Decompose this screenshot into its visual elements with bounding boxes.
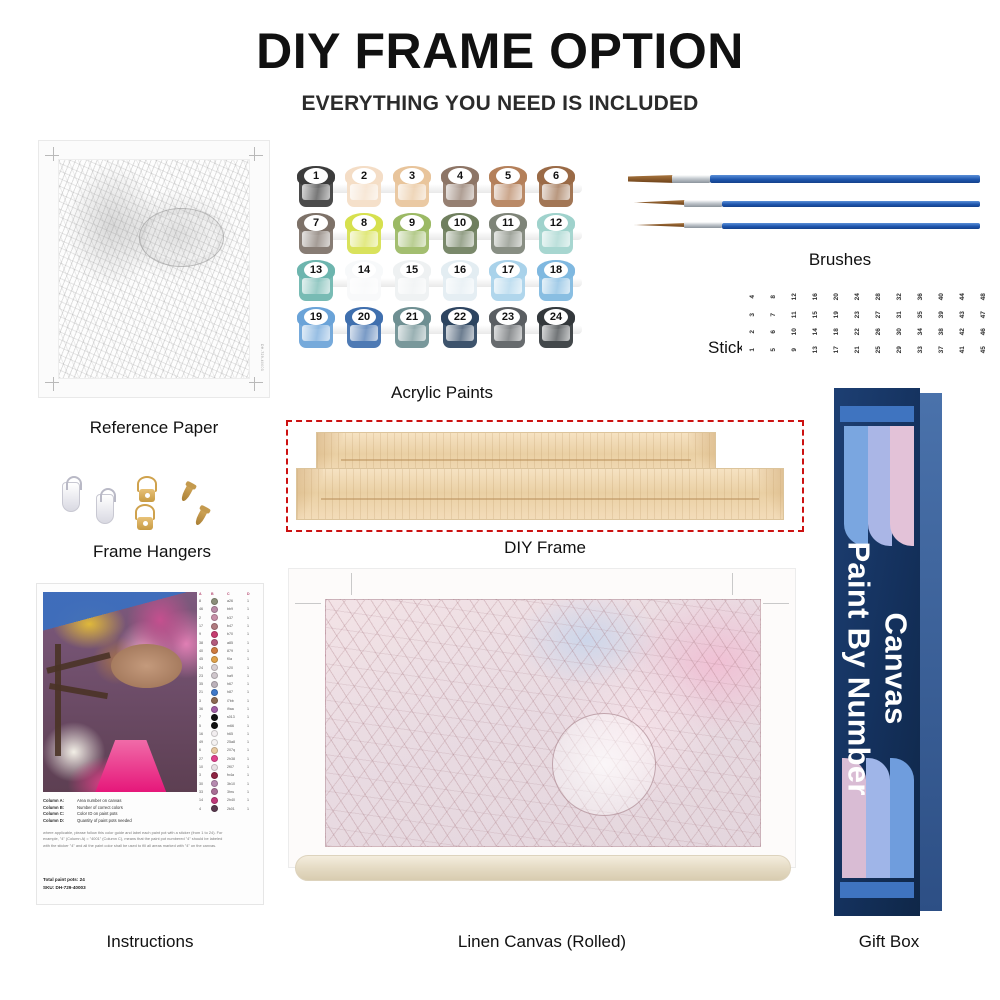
legend-row: 8a261 bbox=[199, 597, 257, 605]
paint-pot-gloss bbox=[398, 325, 426, 341]
sticker-column: 5678 bbox=[763, 288, 784, 358]
legend-color-dot bbox=[211, 739, 218, 746]
legend-area-number: 33 bbox=[199, 790, 211, 794]
caption-reference-paper: Reference Paper bbox=[38, 418, 270, 438]
caption-brushes: Brushes bbox=[760, 250, 920, 270]
legend-quantity: 1 bbox=[247, 641, 257, 645]
legend-row: 35h671 bbox=[199, 680, 257, 688]
d-ring-hanger-icon bbox=[136, 476, 158, 502]
infographic-canvas: DIY FRAME OPTION EVERYTHING YOU NEED IS … bbox=[0, 0, 1000, 1000]
paint-pot-number: 13 bbox=[304, 262, 328, 278]
total-pots-label: Total paint pots: bbox=[43, 877, 78, 882]
sticker-column: 45464748 bbox=[973, 288, 994, 358]
paint-pot-gloss bbox=[302, 325, 330, 341]
paint-pot: 16 bbox=[440, 260, 480, 302]
paint-pot: 11 bbox=[488, 213, 528, 255]
legend-area-number: 45 bbox=[199, 657, 211, 661]
reference-line-art bbox=[58, 159, 250, 379]
legend-area-number: 35 bbox=[199, 682, 211, 686]
paint-pot-number: 4 bbox=[448, 168, 472, 184]
legend-quantity: 1 bbox=[247, 632, 257, 636]
sticker-sheet: 1234567891011121314151617181920212223242… bbox=[742, 288, 994, 358]
legend-header-cell: C bbox=[227, 592, 247, 596]
paint-pot: 23 bbox=[488, 307, 528, 349]
paint-pot-gloss bbox=[350, 278, 378, 294]
sticker-column: 25262728 bbox=[868, 288, 889, 358]
legend-color-code: bb9 bbox=[227, 607, 247, 611]
paint-pot: 6 bbox=[536, 166, 576, 208]
paint-pot: 1 bbox=[296, 166, 336, 208]
caption-gift-box: Gift Box bbox=[824, 932, 954, 952]
paint-pot: 17 bbox=[488, 260, 528, 302]
legend-color-code: m66 bbox=[227, 724, 247, 728]
legend-color-code: 25a8 bbox=[227, 740, 247, 744]
legend-area-number: 24 bbox=[199, 666, 211, 670]
sticker-column: 33343536 bbox=[910, 288, 931, 358]
gift-box-line2: Paint By Number bbox=[840, 433, 877, 905]
paint-pot: 12 bbox=[536, 213, 576, 255]
frame-hanger-set bbox=[56, 468, 276, 540]
sticker-number: 24 bbox=[849, 286, 867, 307]
legend-quantity: 1 bbox=[247, 649, 257, 653]
brush-set bbox=[628, 172, 980, 252]
legend-color-code: f0a bbox=[227, 657, 247, 661]
linen-canvas bbox=[288, 568, 796, 908]
legend-color-code: a85 bbox=[227, 641, 247, 645]
paint-pot: 21 bbox=[392, 307, 432, 349]
legend-color-code: b70 bbox=[227, 632, 247, 636]
paint-pot-number: 23 bbox=[496, 309, 520, 325]
page-title: DIY FRAME OPTION bbox=[0, 26, 1000, 76]
paint-pot: 14 bbox=[344, 260, 384, 302]
screw-icon bbox=[180, 482, 196, 503]
legend-quantity: 1 bbox=[247, 699, 257, 703]
legend-color-dot bbox=[211, 780, 218, 787]
caption-acrylic-paints: Acrylic Paints bbox=[296, 383, 588, 403]
paint-pot: 3 bbox=[392, 166, 432, 208]
legend-color-dot bbox=[211, 681, 218, 688]
paint-pot-number: 14 bbox=[352, 262, 376, 278]
sticker-number: 40 bbox=[933, 286, 951, 307]
instructions-column-key: Column A:Area number on canvasColumn B:N… bbox=[43, 798, 203, 824]
sticker-number: 8 bbox=[765, 286, 783, 307]
legend-area-number: 2 bbox=[199, 616, 211, 620]
paint-pot-gloss bbox=[302, 278, 330, 294]
instructions-column-label: Column D: bbox=[43, 818, 77, 825]
caption-instructions: Instructions bbox=[36, 932, 264, 952]
legend-header-cell: B bbox=[211, 592, 227, 596]
paint-pot-row: 789101112 bbox=[296, 211, 588, 258]
legend-header-cell: D bbox=[247, 592, 257, 596]
legend-row: 3fn4a1 bbox=[199, 771, 257, 779]
instructions-column-desc: Area number on canvas bbox=[77, 798, 121, 803]
paint-pot-number: 3 bbox=[400, 168, 424, 184]
paint-pot-number: 19 bbox=[304, 309, 328, 325]
legend-color-code: b47 bbox=[227, 624, 247, 628]
legend-color-dot bbox=[211, 598, 218, 605]
paint-pot: 15 bbox=[392, 260, 432, 302]
paint-pot-gloss bbox=[350, 184, 378, 200]
legend-area-number: 8 bbox=[199, 599, 211, 603]
legend-quantity: 1 bbox=[247, 607, 257, 611]
legend-row: 5m661 bbox=[199, 721, 257, 729]
legend-area-number: 3 bbox=[199, 773, 211, 777]
paint-pot-number: 12 bbox=[544, 215, 568, 231]
legend-area-number: 7 bbox=[199, 715, 211, 719]
legend-color-code: fn4a bbox=[227, 773, 247, 777]
gift-box-side bbox=[920, 393, 942, 911]
diy-frame-highlight bbox=[286, 420, 804, 532]
paint-pot-row: 131415161718 bbox=[296, 258, 588, 305]
paint-pot-gloss bbox=[494, 278, 522, 294]
instructions-artwork bbox=[43, 592, 197, 792]
paint-pot-gloss bbox=[446, 325, 474, 341]
legend-row: 9b701 bbox=[199, 630, 257, 638]
paint-pot-gloss bbox=[446, 184, 474, 200]
legend-header-cell: A bbox=[199, 592, 211, 596]
canvas-sheet bbox=[288, 568, 796, 868]
legend-quantity: 1 bbox=[247, 690, 257, 694]
legend-quantity: 1 bbox=[247, 724, 257, 728]
paint-pot: 2 bbox=[344, 166, 384, 208]
legend-quantity: 1 bbox=[247, 682, 257, 686]
legend-row: 2b371 bbox=[199, 614, 257, 622]
legend-row: 24h201 bbox=[199, 663, 257, 671]
paint-pot-number: 6 bbox=[544, 168, 568, 184]
legend-area-number: 10 bbox=[199, 765, 211, 769]
legend-color-dot bbox=[211, 647, 218, 654]
paint-pot: 8 bbox=[344, 213, 384, 255]
instructions-column-desc: Color ID on paint pots bbox=[77, 811, 118, 816]
sticker-column: 17181920 bbox=[826, 288, 847, 358]
legend-color-code: s013 bbox=[227, 715, 247, 719]
caption-frame-hangers: Frame Hangers bbox=[36, 542, 268, 562]
sticker-column: 9101112 bbox=[784, 288, 805, 358]
paint-pot-gloss bbox=[542, 231, 570, 247]
legend-color-code: 2h40 bbox=[227, 798, 247, 802]
paint-pot-gloss bbox=[494, 184, 522, 200]
paint-pot-gloss bbox=[446, 278, 474, 294]
sticker-column: 29303132 bbox=[889, 288, 910, 358]
legend-color-dot bbox=[211, 697, 218, 704]
paint-pot-gloss bbox=[494, 231, 522, 247]
legend-quantity: 1 bbox=[247, 599, 257, 603]
legend-row: 46bb91 bbox=[199, 605, 257, 613]
legend-area-number: 40 bbox=[199, 649, 211, 653]
legend-area-number: 30 bbox=[199, 782, 211, 786]
paint-pot-gloss bbox=[302, 231, 330, 247]
paint-pot-gloss bbox=[542, 325, 570, 341]
legend-area-number: 6 bbox=[199, 748, 211, 752]
legend-color-dot bbox=[211, 805, 218, 812]
instructions-color-legend: ABCD8a26146bb912b37117b4719b70138a851408… bbox=[199, 592, 257, 816]
instructions-column-desc: Quantity of paint pots needed bbox=[77, 818, 132, 823]
total-pots-value: 24 bbox=[80, 877, 85, 882]
legend-color-dot bbox=[211, 730, 218, 737]
paint-pot-row: 192021222324 bbox=[296, 305, 588, 352]
legend-row: 303b101 bbox=[199, 780, 257, 788]
legend-color-dot bbox=[211, 623, 218, 630]
sticker-column: 41424344 bbox=[952, 288, 973, 358]
legend-color-dot bbox=[211, 706, 218, 713]
paint-pot: 9 bbox=[392, 213, 432, 255]
paint-pot-gloss bbox=[542, 278, 570, 294]
legend-area-number: 16 bbox=[199, 732, 211, 736]
paint-pot-gloss bbox=[446, 231, 474, 247]
legend-color-dot bbox=[211, 714, 218, 721]
legend-color-dot bbox=[211, 631, 218, 638]
legend-color-dot bbox=[211, 656, 218, 663]
paint-pot-row: 123456 bbox=[296, 164, 588, 211]
legend-area-number: 46 bbox=[199, 607, 211, 611]
legend-area-number: 49 bbox=[199, 740, 211, 744]
paint-pot-gloss bbox=[350, 325, 378, 341]
legend-color-code: h67 bbox=[227, 682, 247, 686]
legend-area-number: 9 bbox=[199, 632, 211, 636]
paint-pot-number: 21 bbox=[400, 309, 424, 325]
gift-box-line1: Canvas bbox=[877, 433, 914, 905]
sticker-number: 36 bbox=[912, 286, 930, 307]
legend-color-code: 207q bbox=[227, 748, 247, 752]
sticker-column: 1234 bbox=[742, 288, 763, 358]
paint-pot-number: 8 bbox=[352, 215, 376, 231]
legend-color-code: 3hru bbox=[227, 790, 247, 794]
paint-pot: 4 bbox=[440, 166, 480, 208]
plastic-hook-icon bbox=[96, 494, 114, 524]
legend-row: 42k011 bbox=[199, 804, 257, 812]
sticker-column: 37383940 bbox=[931, 288, 952, 358]
paint-pot-number: 2 bbox=[352, 168, 376, 184]
sticker-number: 20 bbox=[828, 286, 846, 307]
legend-row: 102f071 bbox=[199, 763, 257, 771]
paint-pot: 10 bbox=[440, 213, 480, 255]
legend-quantity: 1 bbox=[247, 807, 257, 811]
legend-color-code: 2k01 bbox=[227, 807, 247, 811]
paint-pot: 5 bbox=[488, 166, 528, 208]
legend-color-dot bbox=[211, 772, 218, 779]
paint-pot-number: 7 bbox=[304, 215, 328, 231]
legend-color-dot bbox=[211, 664, 218, 671]
screw-icon bbox=[194, 506, 210, 527]
caption-diy-frame: DIY Frame bbox=[286, 538, 804, 558]
legend-row: 4925a81 bbox=[199, 738, 257, 746]
reference-paper-sheet: DH-729-40003 bbox=[38, 140, 270, 398]
legend-color-code: 2f07 bbox=[227, 765, 247, 769]
legend-area-number: 5 bbox=[199, 724, 211, 728]
paint-pot-gloss bbox=[542, 184, 570, 200]
legend-color-dot bbox=[211, 764, 218, 771]
legend-quantity: 1 bbox=[247, 616, 257, 620]
paint-pot-number: 11 bbox=[496, 215, 520, 231]
legend-color-code: h65 bbox=[227, 732, 247, 736]
legend-quantity: 1 bbox=[247, 748, 257, 752]
legend-row: 7s0131 bbox=[199, 713, 257, 721]
paint-pot-number: 24 bbox=[544, 309, 568, 325]
legend-area-number: 27 bbox=[199, 757, 211, 761]
paint-pot: 24 bbox=[536, 307, 576, 349]
sticker-number: 44 bbox=[954, 286, 972, 307]
paint-pot-number: 15 bbox=[400, 262, 424, 278]
paint-pot-number: 20 bbox=[352, 309, 376, 325]
legend-quantity: 1 bbox=[247, 715, 257, 719]
caption-linen-canvas: Linen Canvas (Rolled) bbox=[288, 932, 796, 952]
paint-pot-number: 9 bbox=[400, 215, 424, 231]
legend-row: 21h871 bbox=[199, 688, 257, 696]
legend-color-dot bbox=[211, 614, 218, 621]
canvas-rolled-edge bbox=[295, 855, 791, 881]
legend-quantity: 1 bbox=[247, 624, 257, 628]
legend-color-code: 2h38 bbox=[227, 757, 247, 761]
paint-pot-gloss bbox=[398, 278, 426, 294]
paint-pot-gloss bbox=[302, 184, 330, 200]
legend-color-dot bbox=[211, 747, 218, 754]
sticker-column: 13141516 bbox=[805, 288, 826, 358]
sticker-number: 16 bbox=[807, 286, 825, 307]
paint-pot: 20 bbox=[344, 307, 384, 349]
frame-bar-bottom bbox=[296, 468, 784, 520]
legend-quantity: 1 bbox=[247, 757, 257, 761]
legend-quantity: 1 bbox=[247, 773, 257, 777]
reference-side-code: DH-729-40003 bbox=[260, 344, 264, 371]
legend-color-dot bbox=[211, 672, 218, 679]
legend-color-code: 3b10 bbox=[227, 782, 247, 786]
legend-quantity: 1 bbox=[247, 765, 257, 769]
legend-quantity: 1 bbox=[247, 674, 257, 678]
paint-pot-number: 22 bbox=[448, 309, 472, 325]
gift-box: Canvas Paint By Number bbox=[834, 388, 944, 916]
legend-color-dot bbox=[211, 689, 218, 696]
paint-pot-gloss bbox=[350, 231, 378, 247]
legend-row: 6207q1 bbox=[199, 746, 257, 754]
legend-area-number: 36 bbox=[199, 707, 211, 711]
legend-area-number: 23 bbox=[199, 674, 211, 678]
instructions-note: where applicable, please follow this col… bbox=[43, 830, 229, 849]
acrylic-paints-grid: 123456789101112131415161718192021222324 bbox=[296, 164, 588, 364]
d-ring-hanger-icon bbox=[134, 504, 156, 530]
legend-color-dot bbox=[211, 639, 218, 646]
legend-area-number: 17 bbox=[199, 624, 211, 628]
sticker-number: 48 bbox=[975, 286, 993, 307]
legend-row: 333hru1 bbox=[199, 788, 257, 796]
gift-box-label: Canvas Paint By Number bbox=[840, 433, 913, 905]
paint-pot-gloss bbox=[398, 231, 426, 247]
legend-color-dot bbox=[211, 788, 218, 795]
paint-pot: 7 bbox=[296, 213, 336, 255]
legend-quantity: 1 bbox=[247, 740, 257, 744]
paint-pot: 13 bbox=[296, 260, 336, 302]
paint-pot-number: 16 bbox=[448, 262, 472, 278]
legend-area-number: 38 bbox=[199, 641, 211, 645]
legend-area-number: 21 bbox=[199, 690, 211, 694]
canvas-numbered-outline bbox=[325, 599, 761, 847]
legend-area-number: 3 bbox=[199, 699, 211, 703]
legend-row: 36i9aa1 bbox=[199, 705, 257, 713]
legend-quantity: 1 bbox=[247, 798, 257, 802]
legend-color-dot bbox=[211, 755, 218, 762]
legend-row: 408791 bbox=[199, 647, 257, 655]
paint-pot-number: 18 bbox=[544, 262, 568, 278]
paint-pot-gloss bbox=[398, 184, 426, 200]
sticker-number: 12 bbox=[786, 286, 804, 307]
legend-row: 3i7bb1 bbox=[199, 697, 257, 705]
legend-color-dot bbox=[211, 606, 218, 613]
paint-pot: 18 bbox=[536, 260, 576, 302]
page-subtitle: EVERYTHING YOU NEED IS INCLUDED bbox=[0, 92, 1000, 116]
paint-pot: 19 bbox=[296, 307, 336, 349]
legend-color-code: b37 bbox=[227, 616, 247, 620]
legend-row: 16h651 bbox=[199, 730, 257, 738]
legend-color-code: i7bb bbox=[227, 699, 247, 703]
legend-color-code: a26 bbox=[227, 599, 247, 603]
legend-color-code: h87 bbox=[227, 690, 247, 694]
gift-box-front: Canvas Paint By Number bbox=[834, 388, 920, 916]
legend-row: 38a851 bbox=[199, 638, 257, 646]
legend-quantity: 1 bbox=[247, 657, 257, 661]
sticker-number: 28 bbox=[870, 286, 888, 307]
sticker-number: 32 bbox=[891, 286, 909, 307]
legend-row: 142h401 bbox=[199, 796, 257, 804]
paint-pot-gloss bbox=[494, 325, 522, 341]
legend-row: 23ha91 bbox=[199, 672, 257, 680]
legend-quantity: 1 bbox=[247, 732, 257, 736]
legend-row: 45f0a1 bbox=[199, 655, 257, 663]
instructions-sheet: ABCD8a26146bb912b37117b4719b70138a851408… bbox=[36, 583, 264, 905]
legend-quantity: 1 bbox=[247, 790, 257, 794]
plastic-hook-icon bbox=[62, 482, 80, 512]
sticker-column: 21222324 bbox=[847, 288, 868, 358]
legend-color-code: h20 bbox=[227, 666, 247, 670]
instructions-column-desc: Number of correct colors bbox=[77, 805, 123, 810]
paint-pot-number: 5 bbox=[496, 168, 520, 184]
paint-pot-number: 10 bbox=[448, 215, 472, 231]
legend-quantity: 1 bbox=[247, 707, 257, 711]
paint-pot: 22 bbox=[440, 307, 480, 349]
legend-color-dot bbox=[211, 722, 218, 729]
sku-value: DH-729-40003 bbox=[56, 885, 86, 890]
sticker-number: 4 bbox=[744, 286, 762, 307]
paint-pot-number: 17 bbox=[496, 262, 520, 278]
legend-quantity: 1 bbox=[247, 666, 257, 670]
legend-row: 17b471 bbox=[199, 622, 257, 630]
legend-row: 272h381 bbox=[199, 755, 257, 763]
instructions-footer: Total paint pots: 24 SKU: DH-729-40003 bbox=[43, 876, 229, 893]
legend-quantity: 1 bbox=[247, 782, 257, 786]
legend-color-code: 879 bbox=[227, 649, 247, 653]
paint-pot-number: 1 bbox=[304, 168, 328, 184]
instructions-column-line: Column D:Quantity of paint pots needed bbox=[43, 818, 203, 825]
legend-color-code: i9aa bbox=[227, 707, 247, 711]
sku-label: SKU: bbox=[43, 885, 54, 890]
legend-color-dot bbox=[211, 797, 218, 804]
legend-color-code: ha9 bbox=[227, 674, 247, 678]
